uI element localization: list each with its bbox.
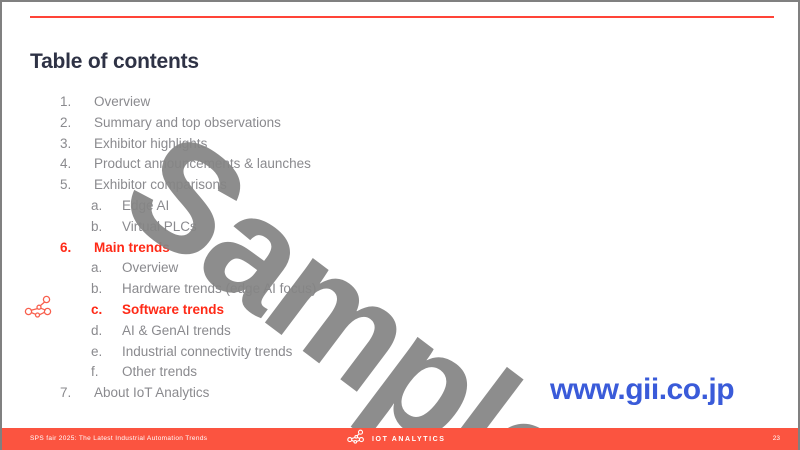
toc-item-marker: 5. (60, 175, 71, 196)
page-number: 23 (773, 428, 780, 450)
page-title: Table of contents (30, 50, 199, 74)
slide-canvas: Table of contents 1. Overview 2. Summary… (0, 0, 800, 450)
toc-subitem-marker: b. (91, 217, 102, 238)
toc-subitem[interactable]: d. AI & GenAI trends (2, 321, 800, 342)
toc-subitem-label: Other trends (122, 362, 197, 383)
toc-subitem-marker: a. (91, 196, 102, 217)
toc-item[interactable]: 4. Product announcements & launches (2, 154, 800, 175)
toc-subitem-label: Virtual PLCs (122, 217, 197, 238)
toc-item-marker: 4. (60, 154, 71, 175)
footer-brand: IOT ANALYTICS (346, 428, 446, 450)
toc-item-marker: 2. (60, 113, 71, 134)
toc-subitem[interactable]: a. Edge AI (2, 196, 800, 217)
toc-subitem[interactable]: b. Hardware trends (edge AI focus) (2, 279, 800, 300)
toc-subitem[interactable]: e. Industrial connectivity trends (2, 342, 800, 363)
toc-item-label: Product announcements & launches (94, 154, 311, 175)
toc-item[interactable]: 1. Overview (2, 92, 800, 113)
toc-item-label: Main trends (94, 238, 170, 259)
toc-subitem-label: AI & GenAI trends (122, 321, 231, 342)
gii-url-stamp: www.gii.co.jp (550, 373, 734, 407)
toc-subitem-label: Overview (122, 258, 178, 279)
toc-item-marker: 3. (60, 134, 71, 155)
toc-subitem-label: Software trends (122, 300, 224, 321)
toc-item-label: Exhibitor comparisons (94, 175, 227, 196)
network-nodes-icon (346, 428, 368, 450)
toc-item-marker: 1. (60, 92, 71, 113)
table-of-contents-list: 1. Overview 2. Summary and top observati… (2, 92, 800, 404)
toc-item-marker: 7. (60, 383, 71, 404)
toc-subitem-label: Hardware trends (edge AI focus) (122, 279, 316, 300)
toc-item-label: Exhibitor highlights (94, 134, 207, 155)
toc-subitem-marker: b. (91, 279, 102, 300)
toc-item-marker: 6. (60, 238, 71, 259)
toc-subitem-marker: d. (91, 321, 102, 342)
network-nodes-icon (22, 292, 58, 322)
toc-item[interactable]: 5. Exhibitor comparisons (2, 175, 800, 196)
toc-item[interactable]: 2. Summary and top observations (2, 113, 800, 134)
toc-subitem-label: Edge AI (122, 196, 169, 217)
top-accent-rule (30, 16, 774, 18)
footer-bar: SPS fair 2025: The Latest Industrial Aut… (2, 428, 800, 450)
toc-subitem-marker: c. (91, 300, 102, 321)
footer-title: SPS fair 2025: The Latest Industrial Aut… (30, 428, 207, 450)
toc-subitem[interactable]: b. Virtual PLCs (2, 217, 800, 238)
toc-subitem-active-software-trends[interactable]: c. Software trends (2, 300, 800, 321)
toc-item-label: Overview (94, 92, 150, 113)
toc-item[interactable]: 3. Exhibitor highlights (2, 134, 800, 155)
toc-item-active-main-trends[interactable]: 6. Main trends (2, 238, 800, 259)
toc-item-label: About IoT Analytics (94, 383, 209, 404)
toc-subitem[interactable]: a. Overview (2, 258, 800, 279)
toc-subitem-label: Industrial connectivity trends (122, 342, 292, 363)
toc-subitem-marker: f. (91, 362, 99, 383)
toc-item-label: Summary and top observations (94, 113, 281, 134)
toc-subitem-marker: e. (91, 342, 102, 363)
footer-brand-name: IOT ANALYTICS (372, 436, 446, 443)
toc-subitem-marker: a. (91, 258, 102, 279)
